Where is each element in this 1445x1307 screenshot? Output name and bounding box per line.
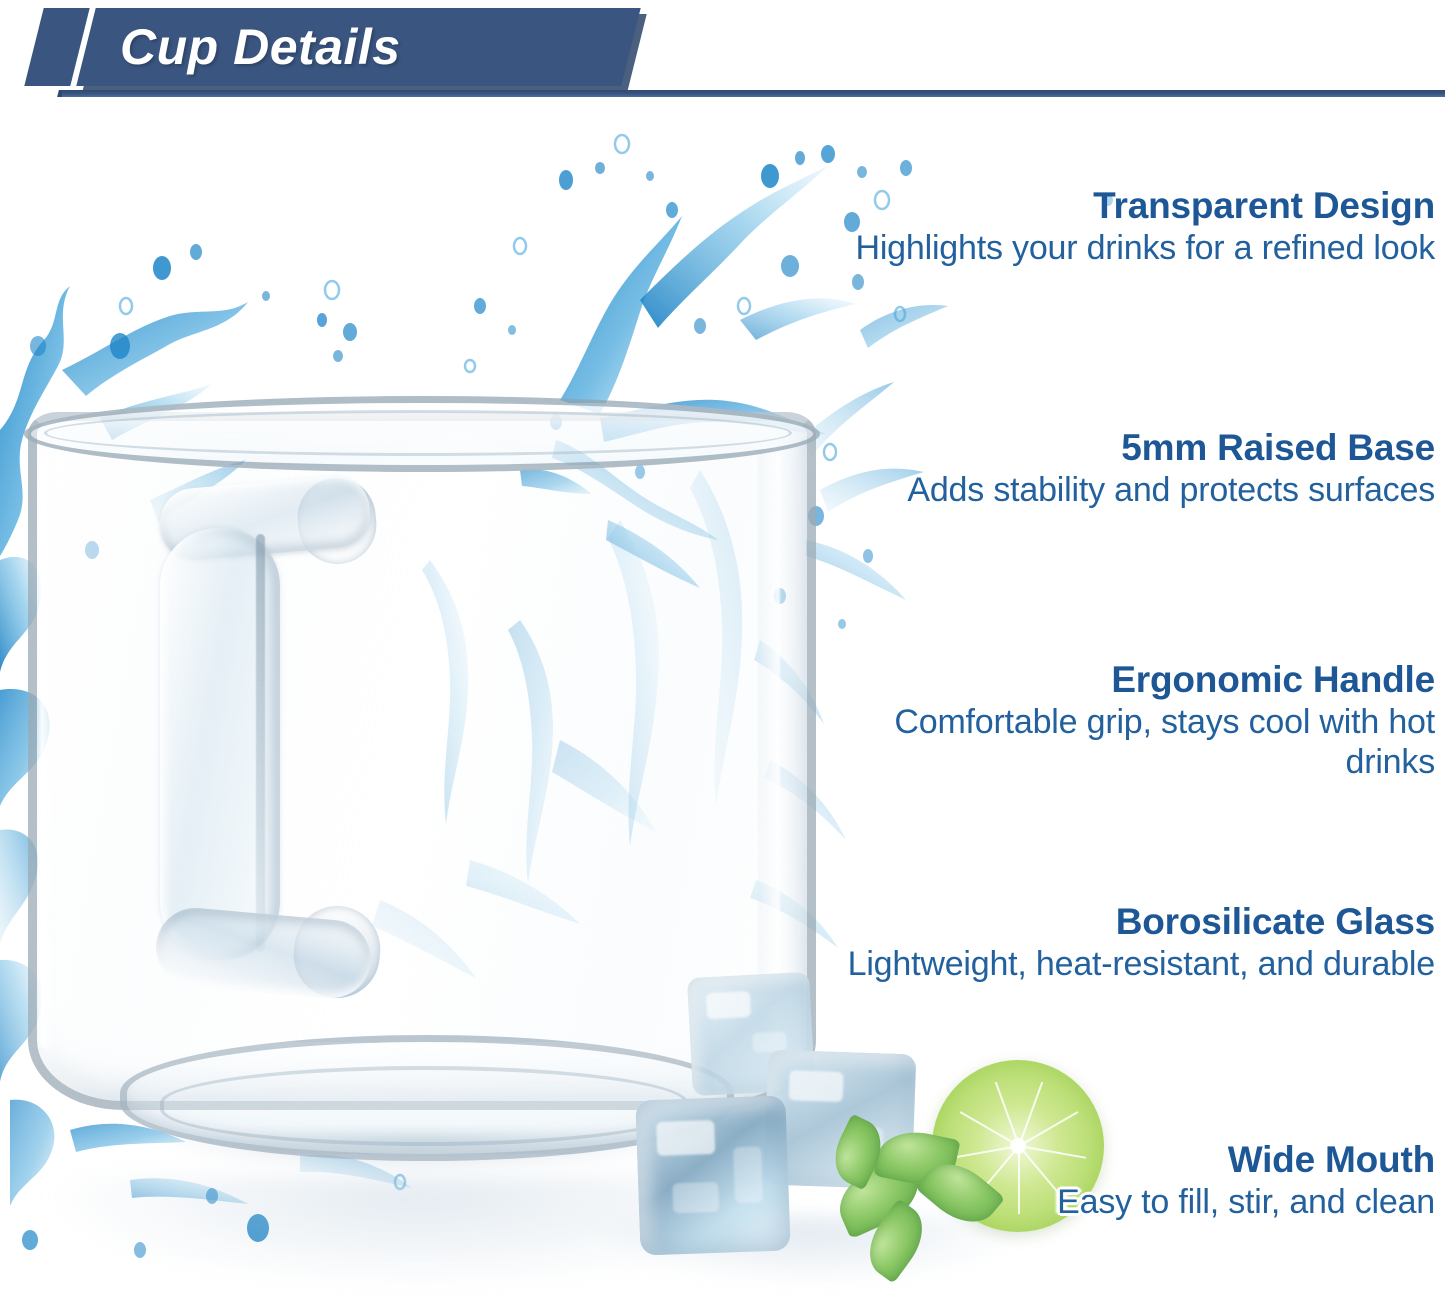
feature-item-wide-mouth: Wide Mouth Easy to fill, stir, and clean	[795, 1140, 1435, 1223]
feature-item-transparent-design: Transparent Design Highlights your drink…	[815, 186, 1435, 269]
page-title: Cup Details	[120, 8, 640, 86]
infographic-canvas: Cup Details Transparent Design Highlight…	[0, 0, 1445, 1307]
feature-description: Adds stability and protects surfaces	[815, 471, 1435, 511]
cup-rim-inner	[44, 410, 792, 456]
feature-item-borosilicate-glass: Borosilicate Glass Lightweight, heat-res…	[815, 902, 1435, 985]
feature-item-ergonomic-handle: Ergonomic Handle Comfortable grip, stays…	[815, 660, 1435, 782]
cup-left-highlight	[40, 450, 56, 1050]
ice-cube-front	[635, 1095, 790, 1255]
cup-right-highlight	[758, 450, 780, 1050]
cup-base-shadow	[160, 1132, 680, 1172]
feature-item-raised-base: 5mm Raised Base Adds stability and prote…	[815, 428, 1435, 511]
feature-title: Wide Mouth	[795, 1140, 1435, 1180]
feature-title: Ergonomic Handle	[815, 660, 1435, 700]
feature-description: Comfortable grip, stays cool with hot dr…	[815, 703, 1435, 783]
feature-list: Transparent Design Highlights your drink…	[799, 0, 1439, 1307]
feature-description: Easy to fill, stir, and clean	[795, 1183, 1435, 1223]
feature-description: Lightweight, heat-resistant, and durable	[815, 945, 1435, 985]
feature-title: 5mm Raised Base	[815, 428, 1435, 468]
feature-description: Highlights your drinks for a refined loo…	[815, 229, 1435, 269]
header-divider-rule	[62, 90, 1445, 97]
handle-grip-highlight	[256, 534, 265, 952]
header-banner: Cup Details	[0, 0, 1445, 110]
feature-title: Transparent Design	[815, 186, 1435, 226]
feature-title: Borosilicate Glass	[815, 902, 1435, 942]
cup-handle	[98, 482, 363, 1017]
